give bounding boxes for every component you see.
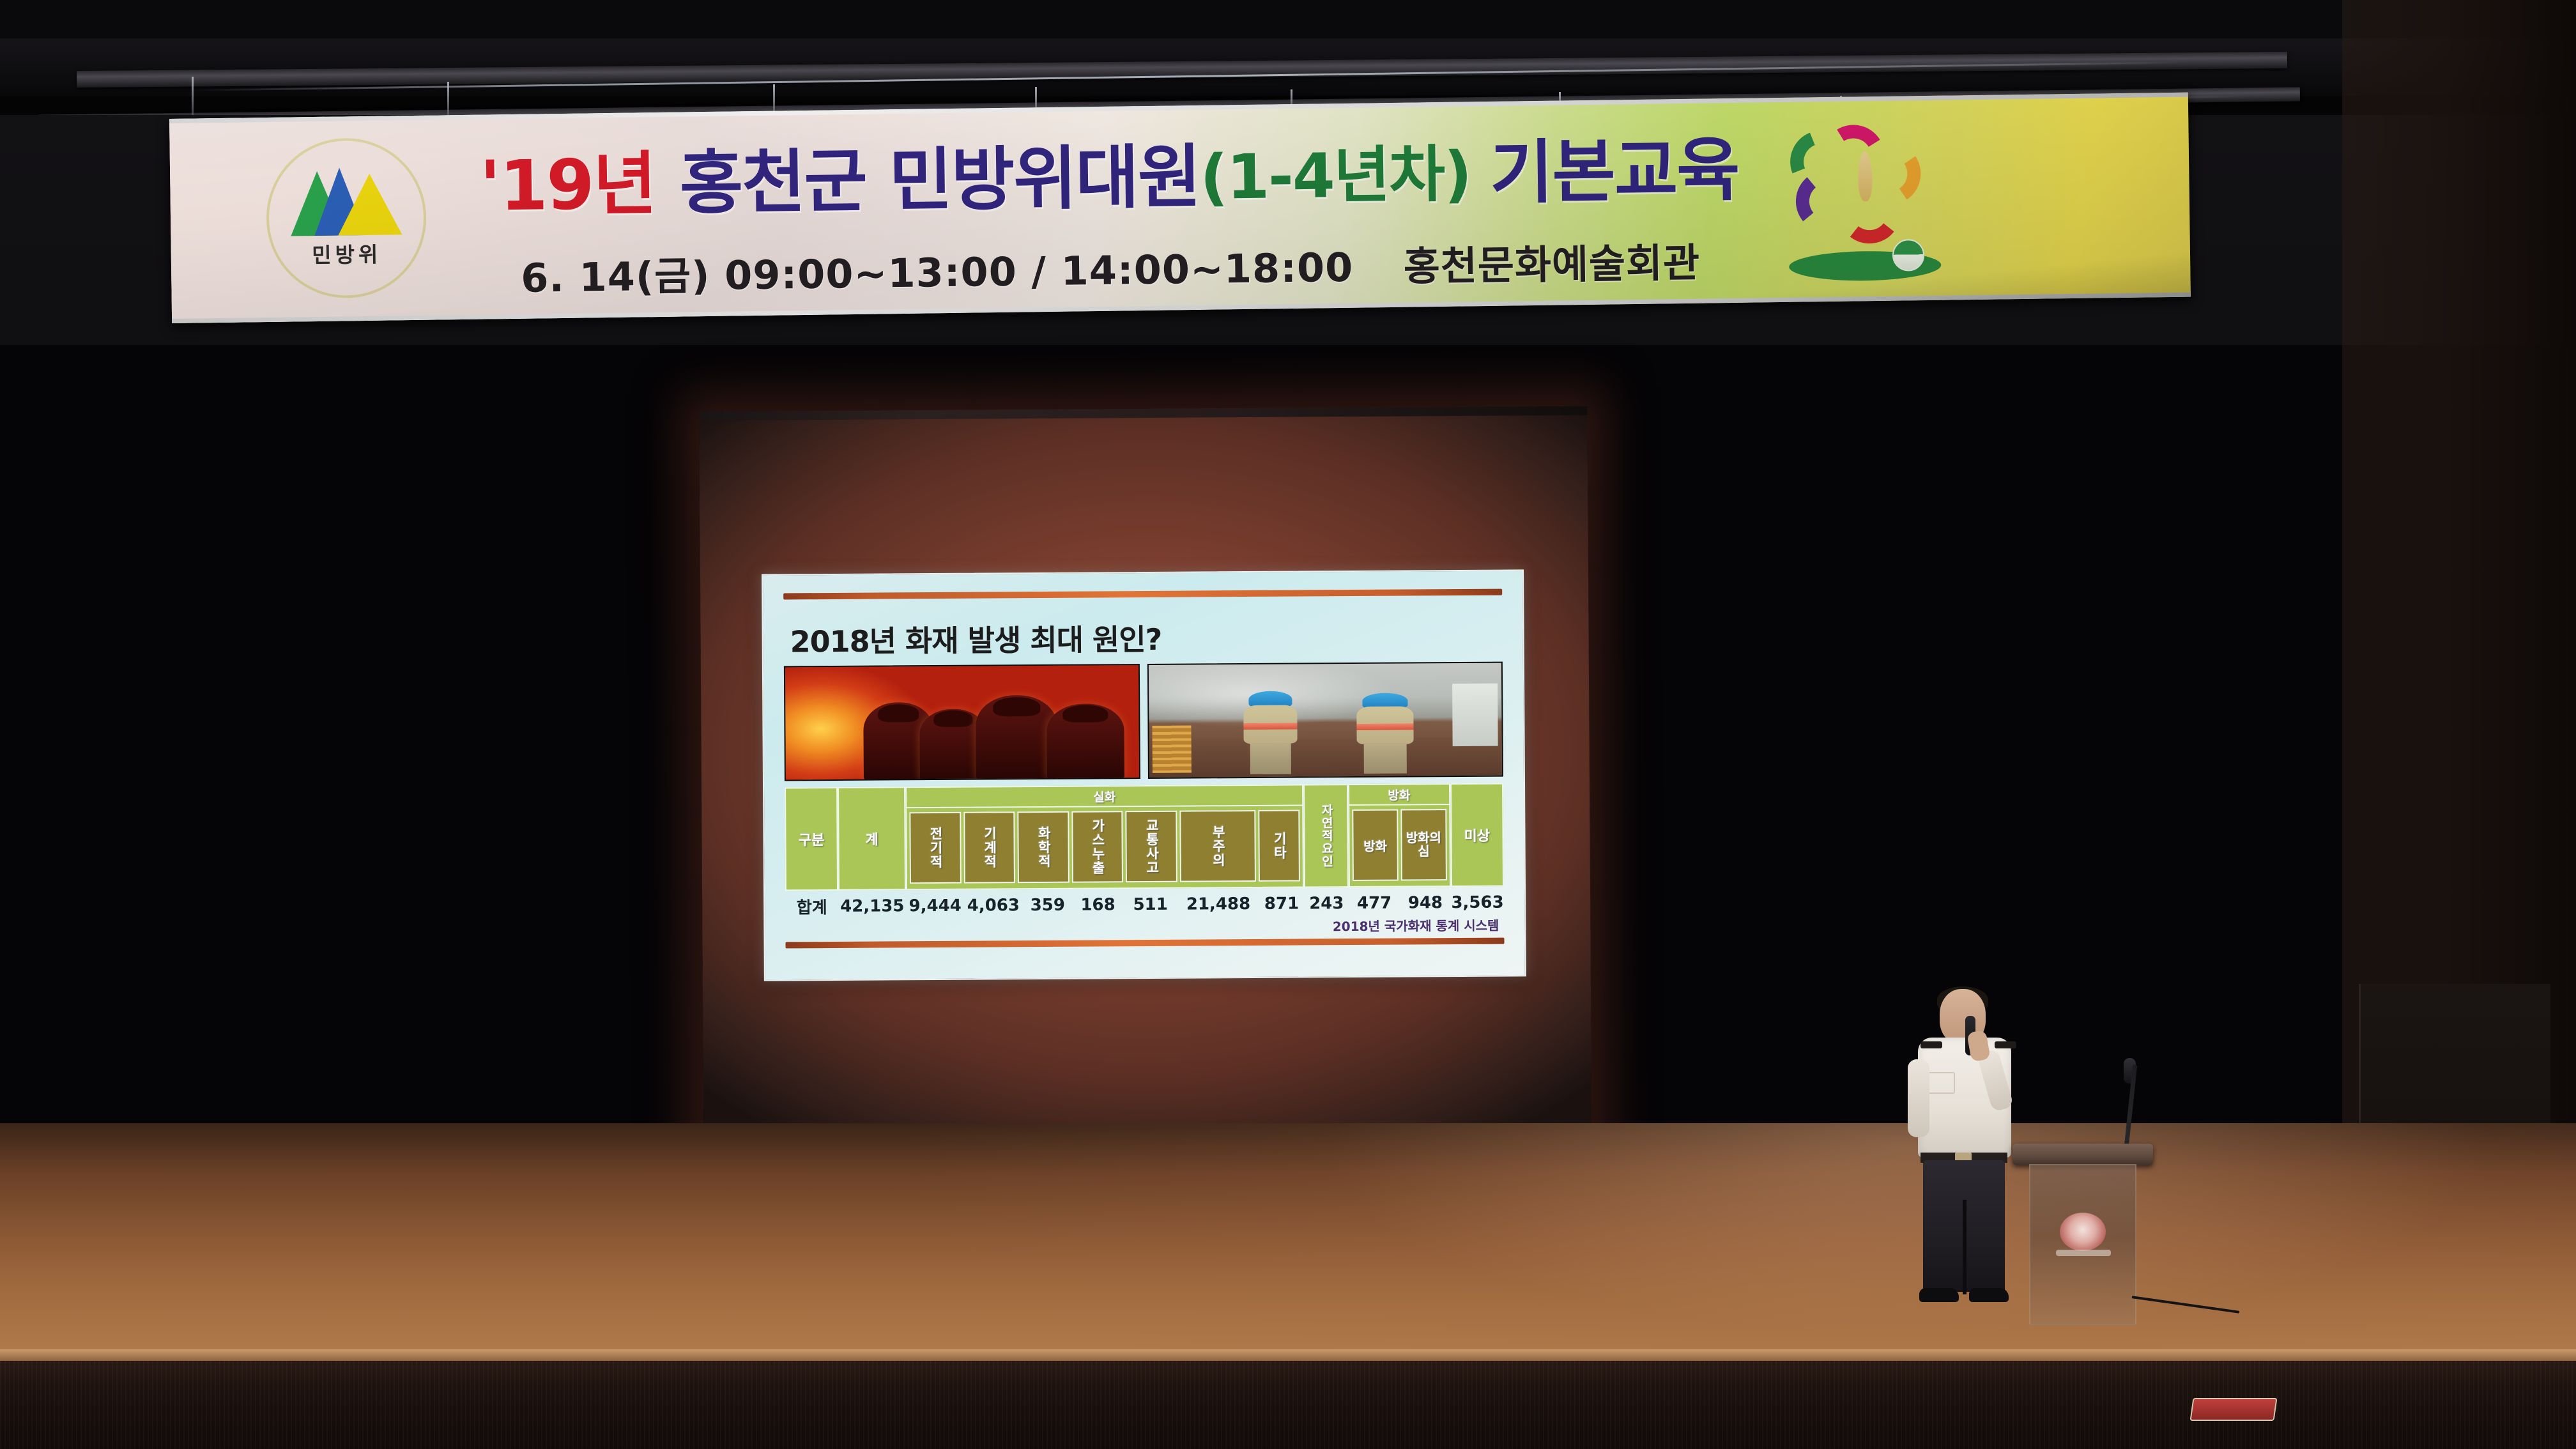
- banner-title: '19년 홍천군 민방위대원 (1-4년차) 기본교육: [450, 116, 1768, 241]
- cell-arson: 477: [1349, 891, 1400, 915]
- header-natural-cause: 자연적요인: [1303, 784, 1349, 887]
- subheader-traffic: 교통사고: [1126, 811, 1177, 882]
- cell-natural: 243: [1304, 891, 1349, 915]
- reflective-stripe: [1356, 723, 1414, 730]
- presenter-arm-left: [1908, 1059, 1929, 1137]
- table-col-unknown: 미상: [1450, 783, 1504, 887]
- header-arson: 방화: [1348, 783, 1450, 806]
- cell-gas-leak: 168: [1073, 893, 1123, 916]
- table-group-silhwa: 실화 전기적 기계적 화학적 가스누출 교통사고 부주의 기타: [905, 784, 1304, 890]
- slide-accent-bar-bottom: [786, 938, 1505, 949]
- civil-defense-mountain-icon: 민방위: [265, 137, 427, 299]
- cell-traffic: 511: [1123, 893, 1178, 917]
- shirt-pocket: [1927, 1072, 1955, 1094]
- cell-mechanical: 4,063: [964, 893, 1022, 917]
- banner-datetime: 6. 14(금) 09:00~13:00 / 14:00~18:00: [521, 244, 1354, 302]
- podium-emblem-base: [2056, 1250, 2111, 1256]
- banner-title-tail: 기본교육: [1489, 136, 1739, 208]
- ceiling-band-2: [0, 0, 2576, 38]
- presentation-slide: 2018년 화재 발생 최대 원인?: [762, 569, 1526, 981]
- subheader-chemical: 화학적: [1017, 811, 1069, 883]
- presenter-shoe-right: [1969, 1288, 2009, 1302]
- cell-electrical: 9,444: [906, 894, 964, 918]
- auditorium-stage-scene: 민방위 '19년 홍천군 민방위대원 (1-4년차) 기본교육 6. 14(금)…: [0, 0, 2576, 1449]
- epaulet-right: [1995, 1041, 2016, 1048]
- banner-venue: 홍천문화예술회관: [1403, 240, 1700, 290]
- podium-top: [2012, 1144, 2153, 1165]
- subheader-electrical: 전기적: [909, 812, 961, 884]
- event-banner: 민방위 '19년 홍천군 민방위대원 (1-4년차) 기본교육 6. 14(금)…: [169, 93, 2191, 323]
- helmet-silhouette: [878, 704, 919, 722]
- table-source-note: 2018년 국가화재 통계 시스템: [785, 916, 1504, 939]
- cell-other: 871: [1259, 891, 1304, 915]
- cell-row-label: 합계: [785, 894, 838, 919]
- helmet-silhouette: [933, 710, 972, 727]
- leg-split: [1963, 1200, 1966, 1294]
- slide-title: 2018년 화재 발생 최대 원인?: [790, 615, 1502, 661]
- header-unknown: 미상: [1450, 783, 1504, 887]
- arson-subheaders: 방화 방화의심: [1348, 805, 1451, 887]
- civil-defense-label: 민방위: [312, 238, 382, 269]
- subheader-gas-leak: 가스누출: [1071, 811, 1123, 882]
- mountain-shapes: [290, 167, 402, 236]
- stage-apron: [0, 1361, 2576, 1449]
- subheader-arson-suspect: 방화의심: [1400, 809, 1447, 880]
- cell-arson-suspect: 948: [1400, 891, 1451, 914]
- turnout-pants: [1250, 743, 1291, 775]
- table-col-gubun: 구분: [785, 787, 838, 891]
- firefighter-silhouette: [976, 695, 1058, 781]
- red-floor-object: [2189, 1398, 2277, 1421]
- photo-fire-scene: [784, 664, 1140, 781]
- subheader-mechanical: 기계적: [963, 811, 1015, 883]
- subheader-negligence: 부주의: [1179, 810, 1256, 882]
- banner-title-year: '19년: [479, 150, 655, 222]
- epaulet-left: [1920, 1041, 1942, 1048]
- reflective-stripe: [1243, 723, 1298, 730]
- fire-cause-statistics-table: 구분 계 실화 전기적 기계적 화학적 가스누출 교통: [785, 783, 1505, 949]
- helmet-silhouette: [1063, 705, 1108, 723]
- cell-total: 42,135: [838, 894, 906, 918]
- banner-top-hem: [169, 93, 2188, 123]
- banner-title-paren: (1-4년차): [1200, 143, 1471, 208]
- header-total: 계: [838, 786, 906, 891]
- podium: [2019, 1144, 2147, 1343]
- room-counter: [1149, 737, 1502, 778]
- firefighter-silhouette: [1046, 703, 1124, 781]
- cell-chemical: 359: [1022, 893, 1073, 917]
- table-row: 합계 42,135 9,444 4,063 359 168 511 21,488…: [785, 891, 1504, 919]
- silhwa-subheaders: 전기적 기계적 화학적 가스누출 교통사고 부주의 기타: [905, 806, 1304, 890]
- appliance: [1452, 683, 1498, 746]
- cell-unknown: 3,563: [1451, 891, 1504, 915]
- header-silhwa: 실화: [905, 784, 1303, 808]
- projection-screen: 2018년 화재 발생 최대 원인?: [699, 406, 1591, 1159]
- cell-negligence: 21,488: [1177, 892, 1259, 916]
- header-gubun: 구분: [785, 787, 838, 891]
- hongcheon-flower-icon: [1791, 124, 1943, 283]
- firefighter-blue-helmet: [1240, 691, 1301, 775]
- table-col-total: 계: [838, 786, 906, 891]
- subheader-arson: 방화: [1352, 809, 1399, 881]
- slide-accent-bar-top: [783, 589, 1502, 600]
- firefighter-blue-helmet: [1353, 693, 1417, 774]
- banner-subtitle: 6. 14(금) 09:00~13:00 / 14:00~18:00 홍천문화예…: [452, 229, 1769, 304]
- podium-emblem-icon: [2060, 1213, 2106, 1251]
- turnout-pants: [1363, 743, 1407, 774]
- banner-title-main: 홍천군 민방위대원: [679, 143, 1200, 219]
- stage-floor: [0, 1123, 2576, 1353]
- banner-cloth: 민방위 '19년 홍천군 민방위대원 (1-4년차) 기본교육 6. 14(금)…: [169, 93, 2191, 323]
- step-ladder: [1152, 726, 1191, 773]
- table-group-arson: 방화 방화 방화의심: [1348, 783, 1451, 887]
- subheader-other: 기타: [1258, 810, 1300, 882]
- photo-investigation-scene: [1147, 662, 1503, 779]
- presenter-shoe-left: [1919, 1288, 1959, 1302]
- table-col-natural: 자연적요인: [1303, 784, 1349, 887]
- slide-photo-row: [784, 662, 1503, 781]
- mountain-yellow: [337, 173, 402, 235]
- helmet-silhouette: [993, 697, 1040, 717]
- table-header-grid: 구분 계 실화 전기적 기계적 화학적 가스누출 교통: [785, 783, 1504, 891]
